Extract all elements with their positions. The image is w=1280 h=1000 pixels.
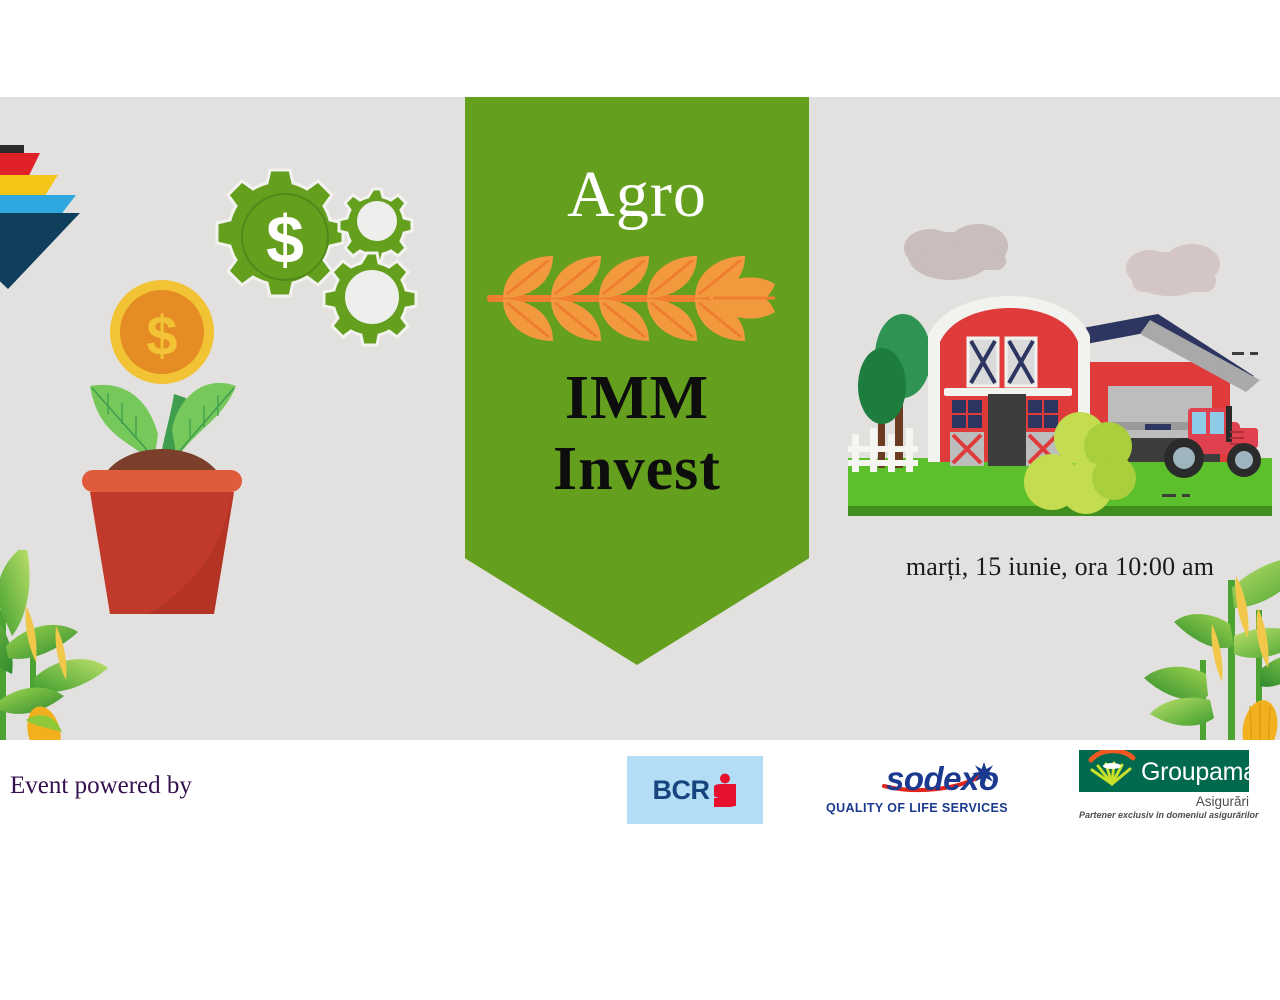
bcr-wordmark: BCR [653, 775, 710, 806]
banner-title-invest: Invest [553, 437, 721, 502]
sodexo-wordmark-wrap: sodexo [824, 760, 1010, 798]
banner-title-imm: IMM [565, 366, 709, 431]
svg-text:$: $ [266, 202, 304, 278]
sponsor-footer: Event powered by BCR [0, 740, 1280, 850]
erste-s-icon [712, 773, 738, 807]
gears-illustration: $ [215, 165, 435, 365]
corn-plants-right [1100, 550, 1280, 740]
powered-by-label: Event powered by [10, 772, 192, 800]
wheat-stalk-emblem [487, 242, 787, 354]
sponsor-logo-bcr[interactable]: BCR [627, 756, 763, 824]
sponsor-logo-groupama[interactable]: Groupama Asigurări Partener exclusiv în … [1079, 750, 1249, 832]
groupama-subtitle: Asigurări [1079, 794, 1249, 809]
agro-imm-invest-banner: Agro [465, 97, 809, 665]
corn-plants-left [0, 550, 172, 740]
poster-canvas: $ $ [0, 0, 1280, 1000]
banner-title-agro: Agro [567, 162, 707, 228]
farm-scene-illustration [840, 210, 1280, 530]
sponsor-logo-sodexo[interactable]: sodexo QUALITY OF LIFE SERVICES [824, 760, 1010, 822]
svg-text:$: $ [146, 304, 177, 367]
sodexo-wordmark: sodexo [886, 760, 999, 798]
sodexo-tagline: QUALITY OF LIFE SERVICES [824, 801, 1010, 815]
hero-band: $ $ [0, 97, 1280, 740]
groupama-field-rays-icon [1083, 750, 1143, 792]
groupama-tagline: Partener exclusiv în domeniul asigurăril… [1079, 810, 1249, 820]
groupama-wordmark: Groupama [1141, 758, 1249, 787]
groupama-logo-box: Groupama [1079, 750, 1249, 792]
